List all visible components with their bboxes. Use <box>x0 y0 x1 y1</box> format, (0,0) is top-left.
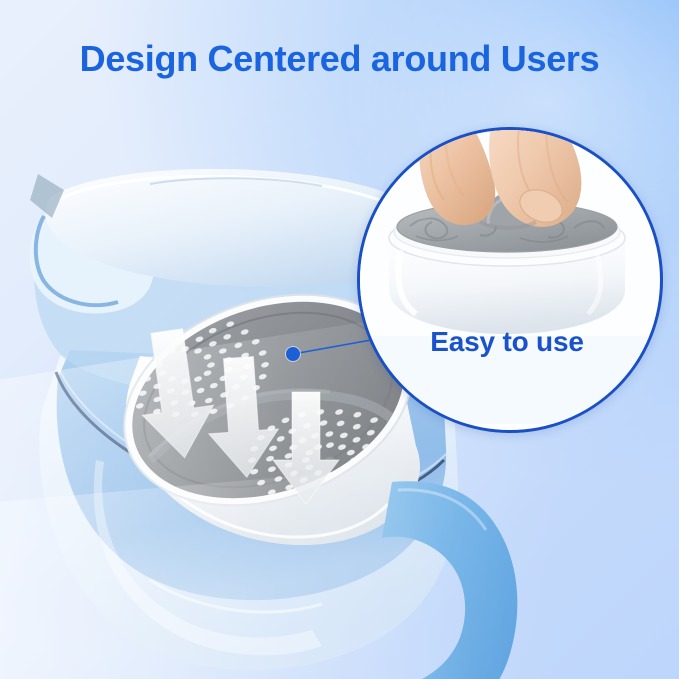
callout-scene <box>360 130 654 424</box>
product-marketing-image: Design Centered around Users <box>0 0 679 679</box>
leader-dot-icon <box>286 347 300 361</box>
callout-circle[interactable]: Easy to use <box>357 127 663 433</box>
page-title: Design Centered around Users <box>0 38 679 80</box>
callout-caption: Easy to use <box>360 326 654 358</box>
